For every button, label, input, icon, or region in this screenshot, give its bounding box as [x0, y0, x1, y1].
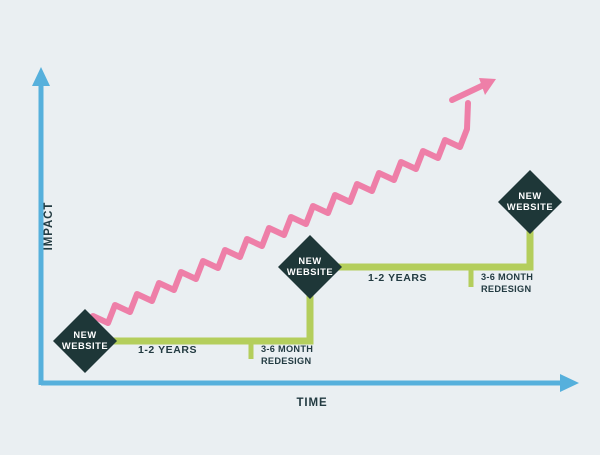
- x-axis-label: TIME: [262, 397, 362, 409]
- redesign-label-1: 3-6 MONTH REDESIGN: [261, 344, 313, 367]
- redesign-label-2-line2: REDESIGN: [481, 284, 533, 296]
- redesign-label-1-line1: 3-6 MONTH: [261, 344, 313, 356]
- x-axis: [41, 374, 579, 392]
- milestone-diamond-2: [278, 235, 342, 299]
- redesign-label-2-line1: 3-6 MONTH: [481, 272, 533, 284]
- continuous-growth-zigzag: [86, 78, 496, 334]
- redesign-label-1-line2: REDESIGN: [261, 356, 313, 368]
- diagram-graphic: [0, 0, 600, 455]
- redesign-label-2: 3-6 MONTH REDESIGN: [481, 272, 533, 295]
- phase-label-1: 1-2 YEARS: [138, 344, 197, 356]
- x-axis-arrow-icon: [560, 374, 579, 392]
- milestone-diamond-3: [498, 170, 562, 234]
- y-axis-arrow-icon: [32, 67, 50, 86]
- diagram-canvas: IMPACT TIME NEW WEBSITE NEW WEBSITE NEW …: [0, 0, 600, 455]
- phase-label-2: 1-2 YEARS: [368, 272, 427, 284]
- y-axis-label: IMPACT: [43, 171, 55, 281]
